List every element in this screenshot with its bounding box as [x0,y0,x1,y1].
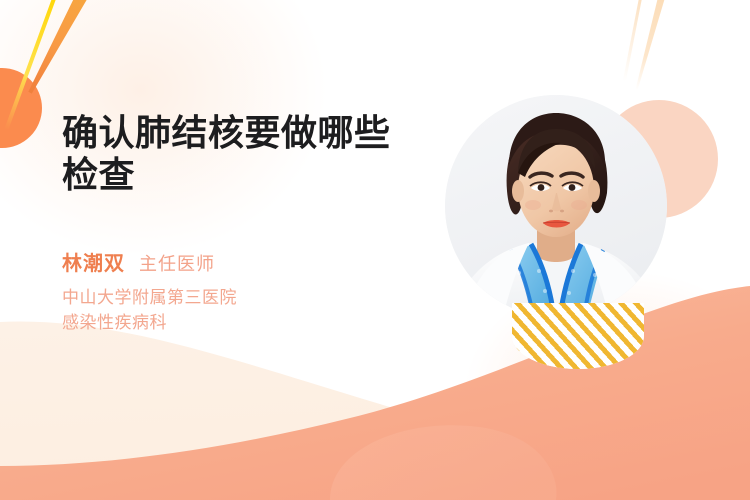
doctor-hospital: 中山大学附属第三医院 [62,286,412,311]
pale-diagonal-stroke-icon [633,0,671,91]
doctor-byline: 林潮双 主任医师 [62,247,412,276]
text-block: 确认肺结核要做哪些检查 林潮双 主任医师 中山大学附属第三医院 感染性疾病科 [62,112,412,335]
page-title: 确认肺结核要做哪些检查 [62,112,402,197]
orange-circle-decoration [0,68,42,148]
orange-diagonal-stroke-icon [25,0,93,96]
pale-thin-stroke-icon [623,0,644,81]
doctor-department: 感染性疾病科 [62,311,412,336]
yellow-diagonal-stroke-icon [4,0,59,130]
doctor-name: 林潮双 [62,247,125,276]
doctor-portrait-avatar [445,95,667,317]
doctor-rank: 主任医师 [139,250,215,276]
doctor-affiliation: 中山大学附属第三医院 感染性疾病科 [62,286,412,335]
doctor-intro-card: 确认肺结核要做哪些检查 林潮双 主任医师 中山大学附属第三医院 感染性疾病科 [0,0,750,500]
